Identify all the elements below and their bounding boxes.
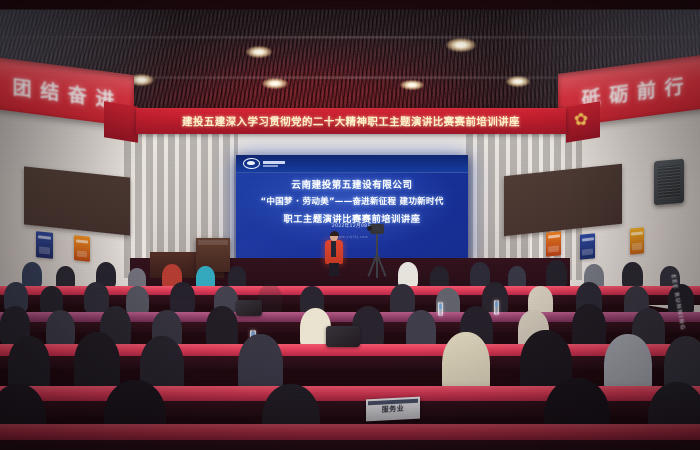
desk-row: [0, 424, 700, 450]
banner-flower-motif: ✿: [570, 110, 592, 134]
ceiling-downlight: [246, 46, 272, 58]
audience-member: [206, 306, 238, 349]
ceiling-beam: [0, 36, 700, 39]
wall-poster: [580, 233, 595, 260]
screen-line-1: 云南建投第五建设有限公司: [236, 177, 468, 191]
backpack: [326, 326, 360, 347]
camera-tripod: [362, 224, 392, 278]
audience-member: [84, 282, 109, 313]
presenter-shirt: [331, 241, 336, 257]
screen-line-2: “中国梦 · 劳动美”——奋进新征程 建功新时代: [236, 195, 468, 207]
logo-oval-icon: [243, 158, 260, 169]
ceiling-downlight: [400, 80, 424, 90]
screen-header-bar: [236, 155, 468, 173]
presenter: [324, 232, 344, 276]
presenter-hair: [330, 231, 339, 236]
desk-top: [0, 424, 700, 440]
main-banner-text: 建投五建深入学习贯彻党的二十大精神职工主题演讲比赛赛前培训讲座: [182, 114, 520, 129]
backpack: [236, 300, 262, 316]
video-camera-icon: [370, 224, 384, 234]
desk-name-placard: 服务业: [366, 397, 420, 422]
wall-board-right: [504, 164, 622, 236]
ceiling-downlight: [506, 76, 530, 87]
desk-front: [0, 440, 700, 450]
placard-text: 服务业: [382, 403, 405, 414]
company-logo: [243, 158, 285, 169]
tripod-leg: [376, 254, 378, 278]
wall-board-left: [24, 166, 130, 235]
projection-screen: 云南建投第五建设有限公司 “中国梦 · 劳动美”——奋进新征程 建功新时代 职工…: [236, 155, 468, 263]
audience-member: [622, 262, 643, 289]
water-bottle: [438, 302, 443, 316]
wall-poster: [74, 235, 90, 262]
wall-poster: [546, 231, 561, 257]
wall-speaker-box: [654, 159, 684, 206]
audience-member: [170, 282, 195, 314]
audience-member: [126, 286, 149, 315]
audience-member: [390, 284, 415, 315]
banner-end-left: [104, 101, 138, 142]
water-bottle: [494, 300, 499, 315]
screen-title-block: 云南建投第五建设有限公司 “中国梦 · 劳动美”——奋进新征程 建功新时代 职工…: [236, 177, 468, 225]
screen-date: 2022年12月08日: [236, 223, 468, 229]
screen-url: www.ynjt5j.com: [236, 235, 468, 239]
wall-poster: [36, 231, 53, 259]
audience-member: [546, 260, 567, 288]
presenter-legs: [329, 263, 339, 276]
wall-poster: [630, 227, 644, 254]
logo-wordmark: [263, 161, 285, 167]
audience-member: [22, 262, 42, 288]
main-event-banner: 建投五建深入学习贯彻党的二十大精神职工主题演讲比赛赛前培训讲座: [136, 108, 567, 134]
audience-member: [46, 310, 75, 348]
ceiling-downlight: [262, 78, 288, 89]
photo-canvas: 团 结 奋 进 砥 砺 前 行 建投五建深入学习贯彻党的二十大精神职工主题演讲比…: [0, 0, 700, 450]
ceiling-downlight: [446, 38, 476, 52]
